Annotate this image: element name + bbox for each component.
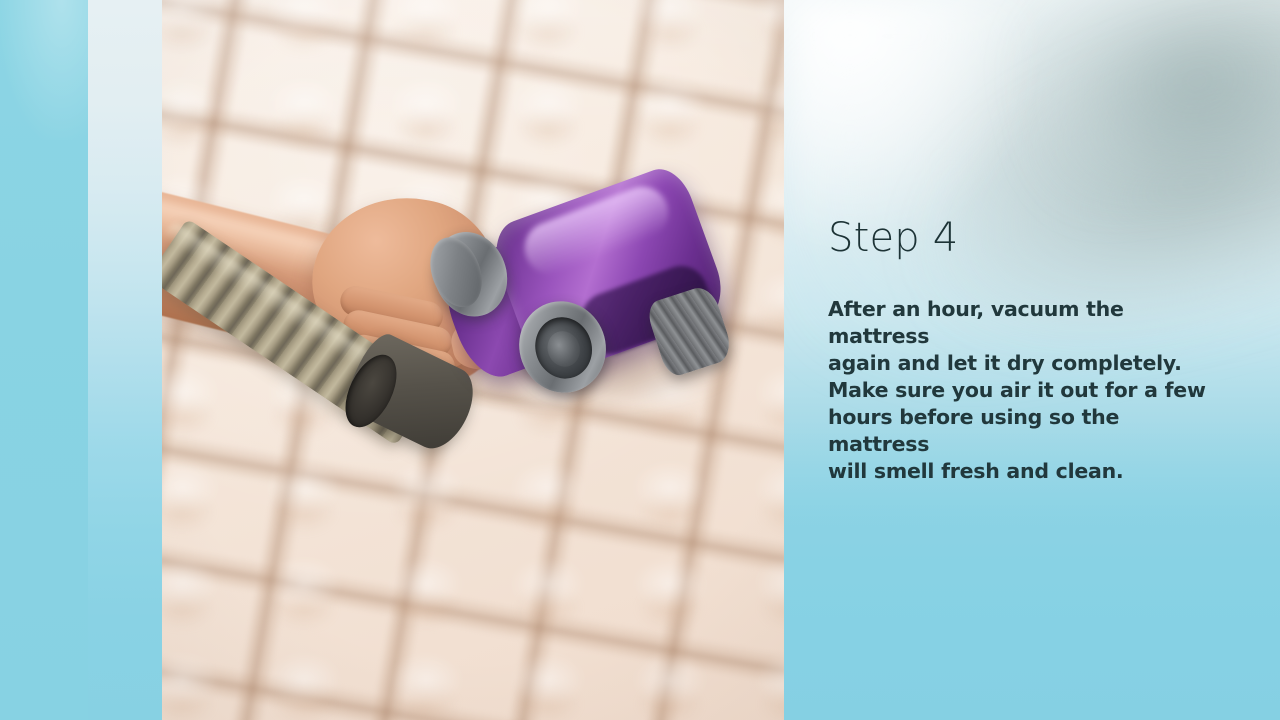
text-panel: Step 4 After an hour, vacuum the mattres…	[828, 214, 1228, 485]
step-body-line: hours before using so the mattress	[828, 404, 1220, 458]
step-heading: Step 4	[828, 214, 1228, 262]
left-gradient-band	[88, 0, 162, 720]
left-accent-band	[0, 0, 88, 720]
vacuum-head	[423, 178, 727, 413]
step-photo	[162, 0, 784, 720]
step-body-line: After an hour, vacuum the mattress	[828, 296, 1220, 350]
slide-stage: Step 4 After an hour, vacuum the mattres…	[0, 0, 1280, 720]
step-body: After an hour, vacuum the mattress again…	[828, 296, 1220, 485]
step-body-line: will smell fresh and clean.	[828, 458, 1220, 485]
step-body-line: Make sure you air it out for a few	[828, 377, 1220, 404]
step-body-line: again and let it dry completely.	[828, 350, 1220, 377]
